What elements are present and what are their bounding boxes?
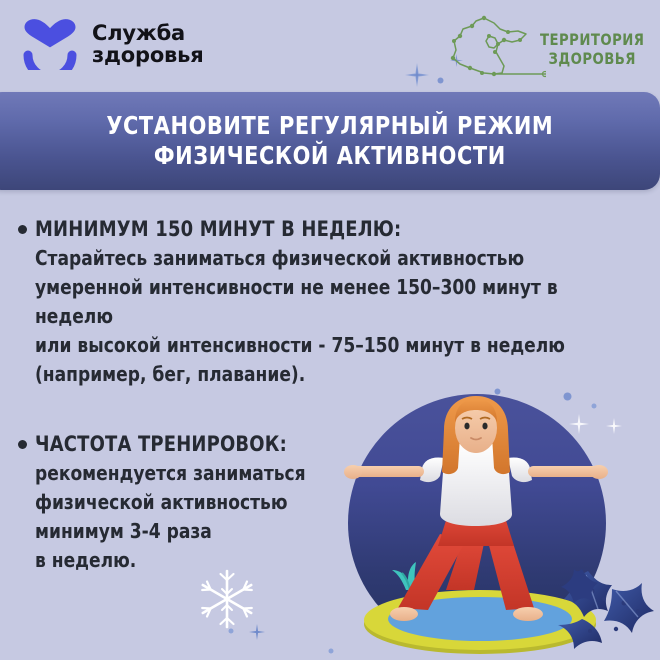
logo-territory-health[interactable]: ТЕРРИТОРИЯ ЗДОРОВЬЯ <box>446 10 646 86</box>
heart-smile-icon <box>22 18 78 70</box>
logo-health-service-text: Служба здоровья <box>92 22 204 66</box>
bullet-item: МИНИМУМ 150 МИНУТ В НЕДЕЛЮ: Старайтесь з… <box>16 214 636 389</box>
bullet-body: рекомендуется заниматься физической акти… <box>16 459 349 575</box>
logo-line-1: Служба <box>92 21 185 45</box>
bullet-body: Старайтесь заниматься физической активно… <box>16 244 605 389</box>
poster-canvas: Служба здоровья <box>0 0 660 660</box>
logo-territory-line-2: ЗДОРОВЬЯ <box>548 49 635 68</box>
banner-title-line-2: ФИЗИЧЕСКОЙ АКТИВНОСТИ <box>106 141 553 171</box>
logo-territory-line-1: ТЕРРИТОРИЯ <box>540 30 644 49</box>
bullet-heading: МИНИМУМ 150 МИНУТ В НЕДЕЛЮ: <box>16 214 605 244</box>
banner-title: УСТАНОВИТЕ РЕГУЛЯРНЫЙ РЕЖИМ ФИЗИЧЕСКОЙ А… <box>93 111 553 171</box>
logo-territory-text: ТЕРРИТОРИЯ ЗДОРОВЬЯ <box>540 30 644 68</box>
logo-line-2: здоровья <box>92 43 204 67</box>
snowflake-icon <box>196 568 258 635</box>
header-banner: УСТАНОВИТЕ РЕГУЛЯРНЫЙ РЕЖИМ ФИЗИЧЕСКОЙ А… <box>0 92 660 190</box>
region-map-outline-icon <box>446 12 546 87</box>
snowflake-leaf-icon <box>560 567 608 616</box>
sparkle-dot-icon <box>328 648 334 654</box>
logo-health-service[interactable]: Служба здоровья <box>22 18 204 70</box>
header-bar: Служба здоровья <box>0 0 660 92</box>
banner-title-line-1: УСТАНОВИТЕ РЕГУЛЯРНЫЙ РЕЖИМ <box>106 111 553 140</box>
